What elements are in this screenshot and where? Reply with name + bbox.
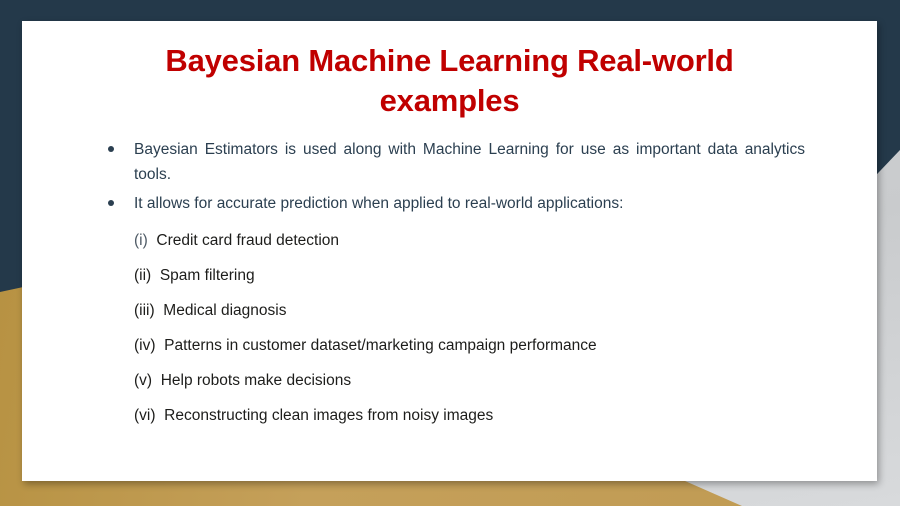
list-item-marker: (iv) <box>134 337 160 354</box>
slide-canvas: Bayesian Machine Learning Real-world exa… <box>0 0 900 506</box>
list-item: (iii) Medical diagnosis <box>22 300 877 322</box>
list-item-label: Spam filtering <box>160 267 255 284</box>
list-item-label: Help robots make decisions <box>161 372 351 389</box>
list-item-marker: (iii) <box>134 302 159 319</box>
list-item-label: Patterns in customer dataset/marketing c… <box>164 337 597 354</box>
list-item-marker: (i) <box>134 232 152 249</box>
bullet-dot-icon <box>108 146 114 152</box>
bullet-item-1: Bayesian Estimators is used along with M… <box>22 137 877 187</box>
list-item-marker: (ii) <box>134 267 156 284</box>
list-item-marker: (v) <box>134 372 156 389</box>
bullet-item-2-text: It allows for accurate prediction when a… <box>134 195 623 212</box>
page-title: Bayesian Machine Learning Real-world exa… <box>22 21 877 121</box>
bullet-list: Bayesian Estimators is used along with M… <box>22 137 877 216</box>
list-item: (iv) Patterns in customer dataset/market… <box>22 335 877 357</box>
bullet-dot-icon <box>108 200 114 206</box>
list-item-label: Reconstructing clean images from noisy i… <box>164 407 493 424</box>
list-item: (vi) Reconstructing clean images from no… <box>22 405 877 427</box>
examples-list: (i) Credit card fraud detection (ii) Spa… <box>22 230 877 427</box>
bullet-item-2: It allows for accurate prediction when a… <box>22 191 877 216</box>
list-item-label: Medical diagnosis <box>163 302 286 319</box>
list-item: (i) Credit card fraud detection <box>22 230 877 252</box>
slide-content-card: Bayesian Machine Learning Real-world exa… <box>22 21 877 481</box>
list-item: (ii) Spam filtering <box>22 265 877 287</box>
bullet-item-1-text: Bayesian Estimators is used along with M… <box>134 141 805 183</box>
list-item-marker: (vi) <box>134 407 160 424</box>
list-item-label: Credit card fraud detection <box>156 232 339 249</box>
list-item: (v) Help robots make decisions <box>22 370 877 392</box>
